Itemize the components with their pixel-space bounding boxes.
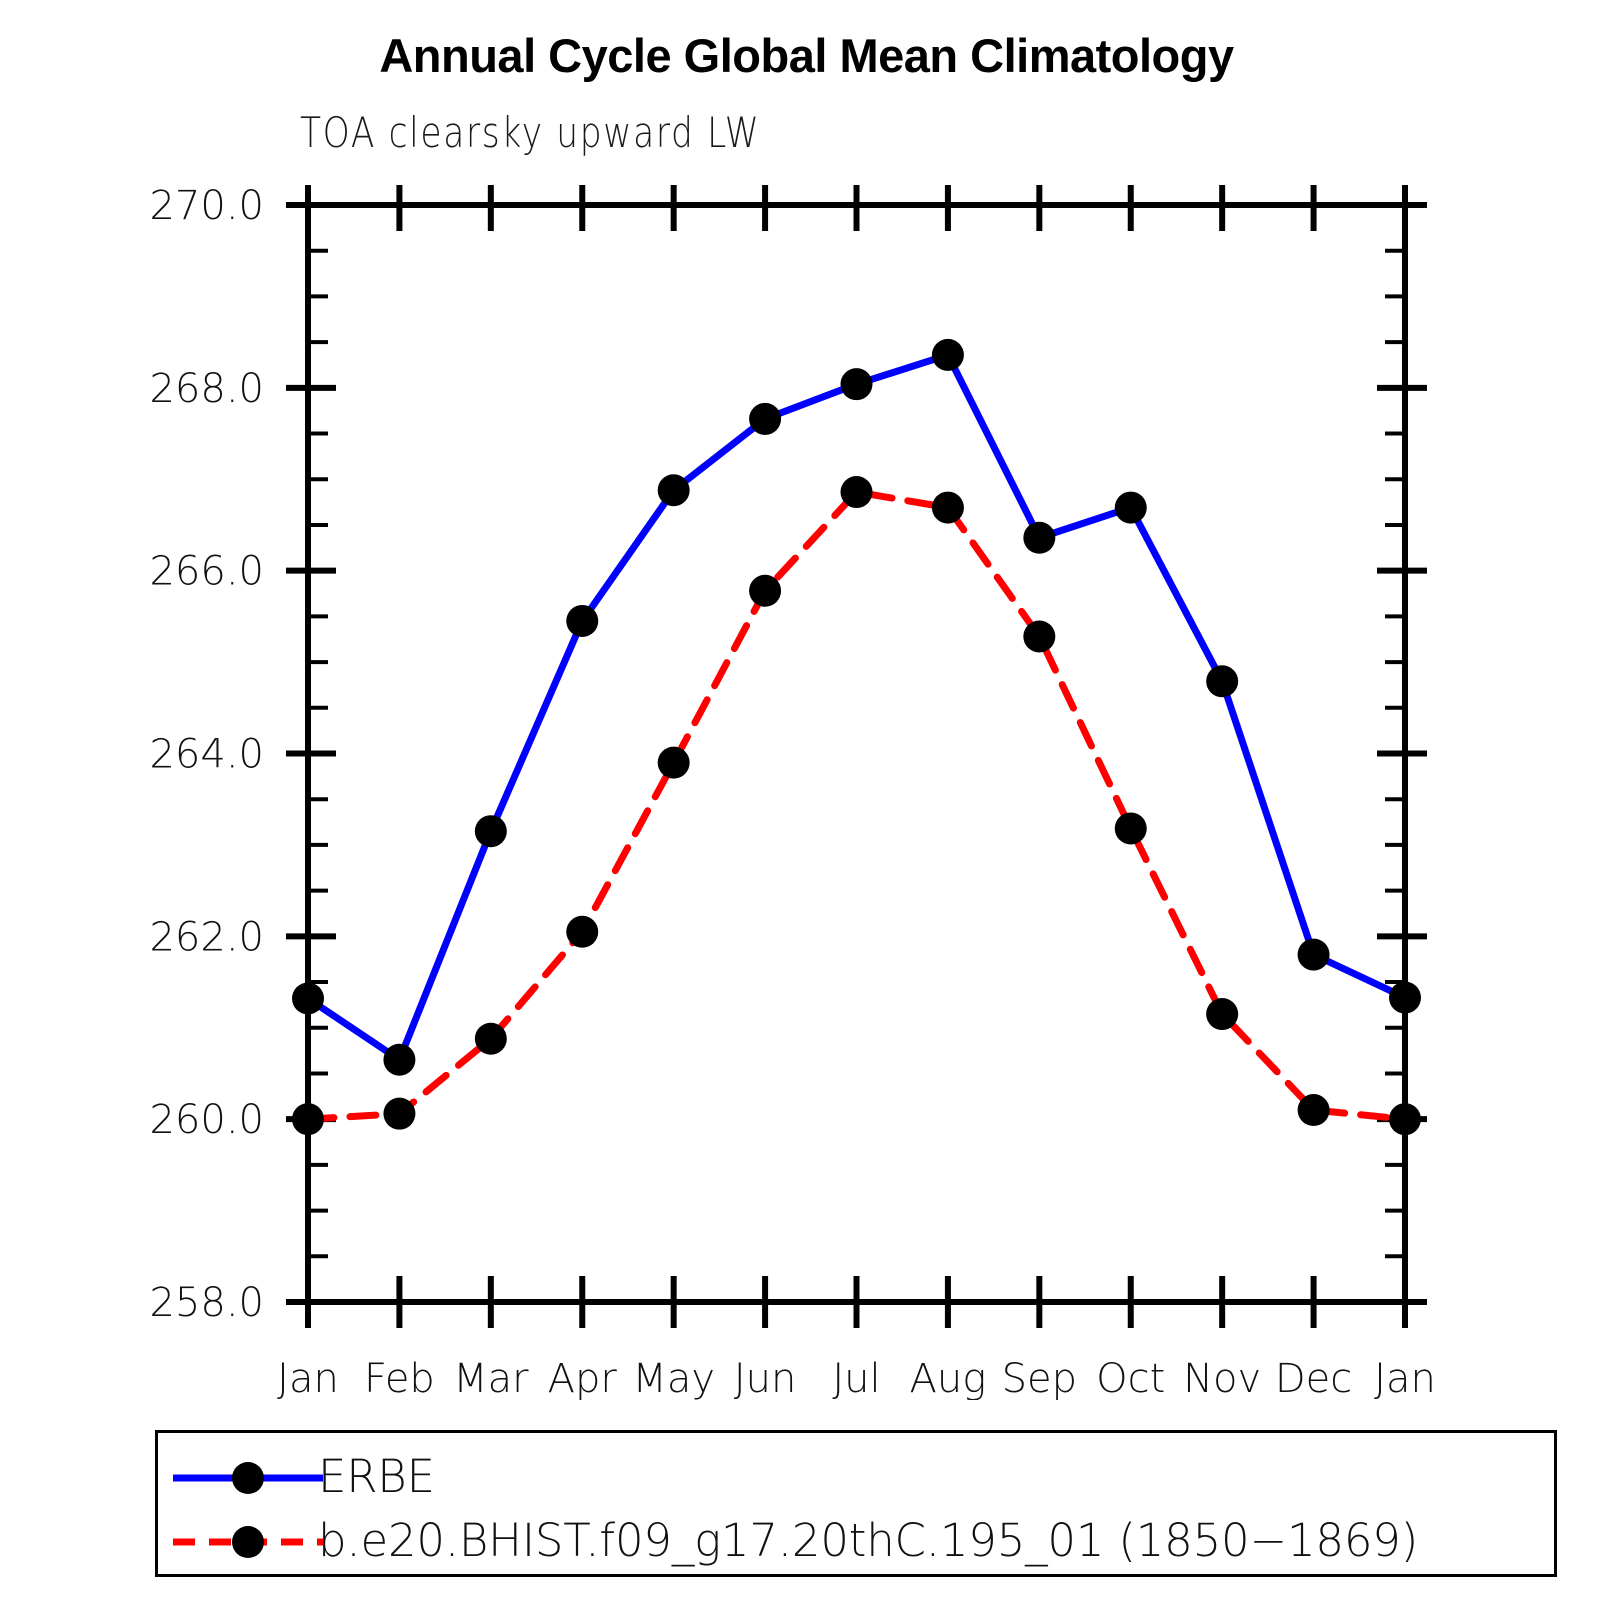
y-tick-label: 268.0 <box>149 366 264 412</box>
x-tick-label: Jul <box>832 1356 880 1400</box>
x-tick-label: May <box>632 1356 715 1400</box>
data-point-marker <box>749 403 781 435</box>
x-tick-label: Dec <box>1275 1356 1352 1400</box>
data-point-marker <box>1298 939 1330 971</box>
legend: ERBE b.e20.BHIST.f09_g17.20thC.195_01 (1… <box>155 1430 1557 1577</box>
data-point-marker <box>1023 620 1055 652</box>
x-tick-label: Aug <box>910 1356 987 1400</box>
x-tick-labels: JanFebMarAprMayJunJulAugSepOctNovDecJan <box>277 1356 1436 1400</box>
legend-label: b.e20.BHIST.f09_g17.20thC.195_01 (1850−1… <box>318 1509 1418 1573</box>
data-point-marker <box>566 916 598 948</box>
chart-page: Annual Cycle Global Mean Climatology TOA… <box>0 0 1613 1613</box>
x-tick-label: Jun <box>734 1356 797 1400</box>
data-point-marker <box>292 1103 324 1135</box>
data-point-marker <box>841 476 873 508</box>
data-point-marker <box>841 368 873 400</box>
data-point-marker <box>1206 665 1238 697</box>
data-point-marker <box>932 339 964 371</box>
x-tick-label: Apr <box>548 1356 618 1400</box>
x-tick-label: Sep <box>1002 1356 1077 1400</box>
x-tick-label: Jan <box>277 1356 339 1400</box>
series-line <box>308 492 1405 1119</box>
x-tick-label: Mar <box>453 1356 529 1400</box>
major-ticks <box>286 185 1427 1328</box>
legend-item-erbe[interactable]: ERBE <box>158 1446 1554 1510</box>
x-tick-label: Feb <box>364 1356 435 1400</box>
data-point-marker <box>1115 492 1147 524</box>
data-point-marker <box>749 575 781 607</box>
plot-area: 258.0260.0262.0264.0266.0268.0270.0 JanF… <box>0 0 1613 1400</box>
y-tick-labels: 258.0260.0262.0264.0266.0268.0270.0 <box>149 183 264 1326</box>
x-tick-label: Jan <box>1374 1356 1436 1400</box>
data-point-marker <box>1298 1094 1330 1126</box>
data-point-marker <box>566 605 598 637</box>
legend-swatch-line <box>173 1510 323 1574</box>
data-point-marker <box>475 1023 507 1055</box>
x-tick-label: Nov <box>1183 1356 1261 1400</box>
data-point-marker <box>383 1098 415 1130</box>
series-line <box>308 355 1405 1060</box>
legend-label: ERBE <box>318 1445 435 1509</box>
legend-item-model[interactable]: b.e20.BHIST.f09_g17.20thC.195_01 (1850−1… <box>158 1510 1554 1574</box>
y-tick-label: 260.0 <box>149 1097 264 1143</box>
data-point-marker <box>658 747 690 779</box>
y-tick-label: 264.0 <box>149 732 264 778</box>
y-tick-label: 262.0 <box>149 914 264 960</box>
minor-ticks <box>308 251 1405 1257</box>
data-point-marker <box>932 492 964 524</box>
x-tick-label: Oct <box>1096 1356 1165 1400</box>
y-tick-label: 266.0 <box>149 549 264 595</box>
y-tick-label: 258.0 <box>149 1280 264 1326</box>
data-point-marker <box>292 982 324 1014</box>
y-tick-label: 270.0 <box>149 183 264 229</box>
data-point-marker <box>1389 982 1421 1014</box>
data-point-marker <box>1206 998 1238 1030</box>
data-point-marker <box>658 474 690 506</box>
legend-swatch-line <box>173 1446 323 1510</box>
data-series-group <box>308 355 1405 1119</box>
data-point-marker <box>383 1044 415 1076</box>
data-markers-group <box>292 339 1421 1135</box>
data-point-marker <box>475 815 507 847</box>
data-point-marker <box>1115 812 1147 844</box>
data-point-marker <box>1023 522 1055 554</box>
data-point-marker <box>1389 1103 1421 1135</box>
